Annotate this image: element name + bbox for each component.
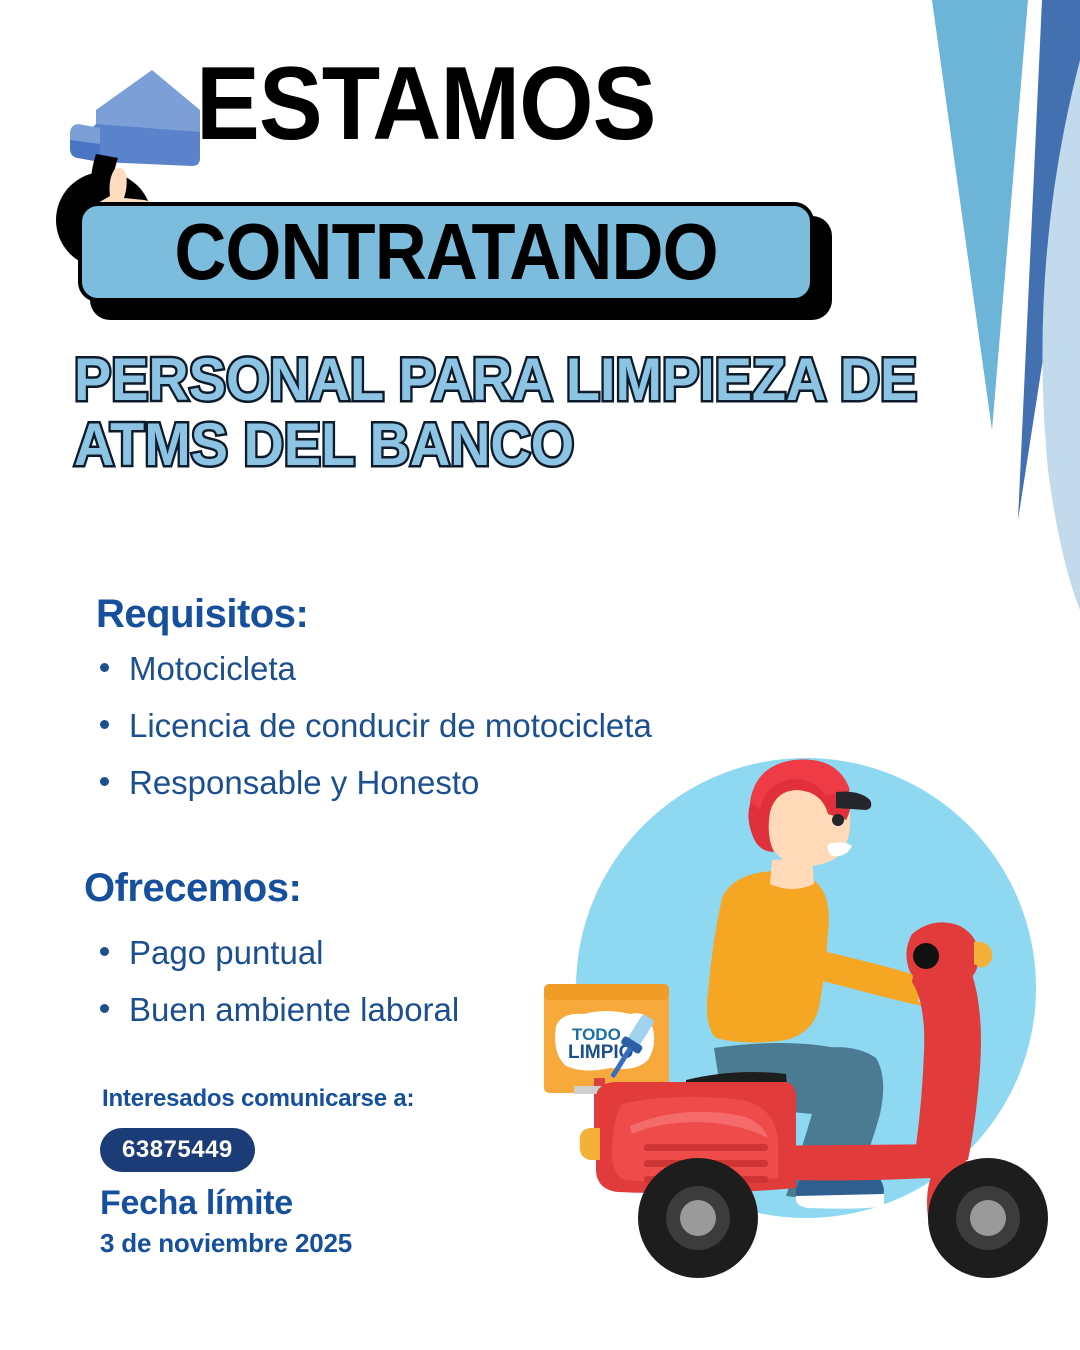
list-item-label: Motocicleta [129,652,296,685]
bullet-dot-icon [100,720,109,729]
deadline-date: 3 de noviembre 2025 [100,1228,352,1259]
ofrecemos-heading: Ofrecemos: [84,866,301,911]
bullet-dot-icon [100,777,109,786]
bullet-dot-icon [100,1004,109,1013]
bullet-dot-icon [100,663,109,672]
phone-number: 63875449 [122,1136,233,1164]
list-item-label: Licencia de conducir de motocicleta [129,709,652,742]
phone-badge[interactable]: 63875449 [100,1128,255,1172]
recruitment-poster: ESTAMOS CONTRATANDO PERSONAL PARA LIMPIE… [0,0,1080,1350]
list-item: Licencia de conducir de motocicleta [100,709,652,742]
rear-wheel-icon [638,1158,758,1278]
job-subtitle-line1: PERSONAL PARA LIMPIEZA DE [74,348,911,413]
job-subtitle: PERSONAL PARA LIMPIEZA DE ATMS DEL BANCO [74,348,911,478]
list-item: Pago puntual [100,936,459,969]
front-wheel-icon [928,1158,1048,1278]
job-subtitle-line2: ATMS DEL BANCO [74,413,911,478]
blade-pale-icon [1042,60,1080,610]
contratando-banner: CONTRATANDO [78,202,820,310]
list-item: Motocicleta [100,652,652,685]
deadline-title: Fecha límite [100,1184,293,1223]
contact-label: Interesados comunicarse a: [102,1085,414,1113]
bullet-dot-icon [100,947,109,956]
list-item-label: Pago puntual [129,936,324,969]
list-item: Buen ambiente laboral [100,993,459,1026]
blade-light-icon [932,0,1028,430]
blade-dark-icon [1018,0,1080,520]
page-title: ESTAMOS [196,52,656,156]
banner-label: CONTRATANDO [115,202,777,302]
list-item-label: Buen ambiente laboral [129,993,459,1026]
delivery-scooter-illustration: TODO LIMPIO [536,748,1066,1308]
ofrecemos-list: Pago puntual Buen ambiente laboral [100,936,459,1050]
list-item-label: Responsable y Honesto [129,766,479,799]
requisitos-heading: Requisitos: [96,592,308,637]
